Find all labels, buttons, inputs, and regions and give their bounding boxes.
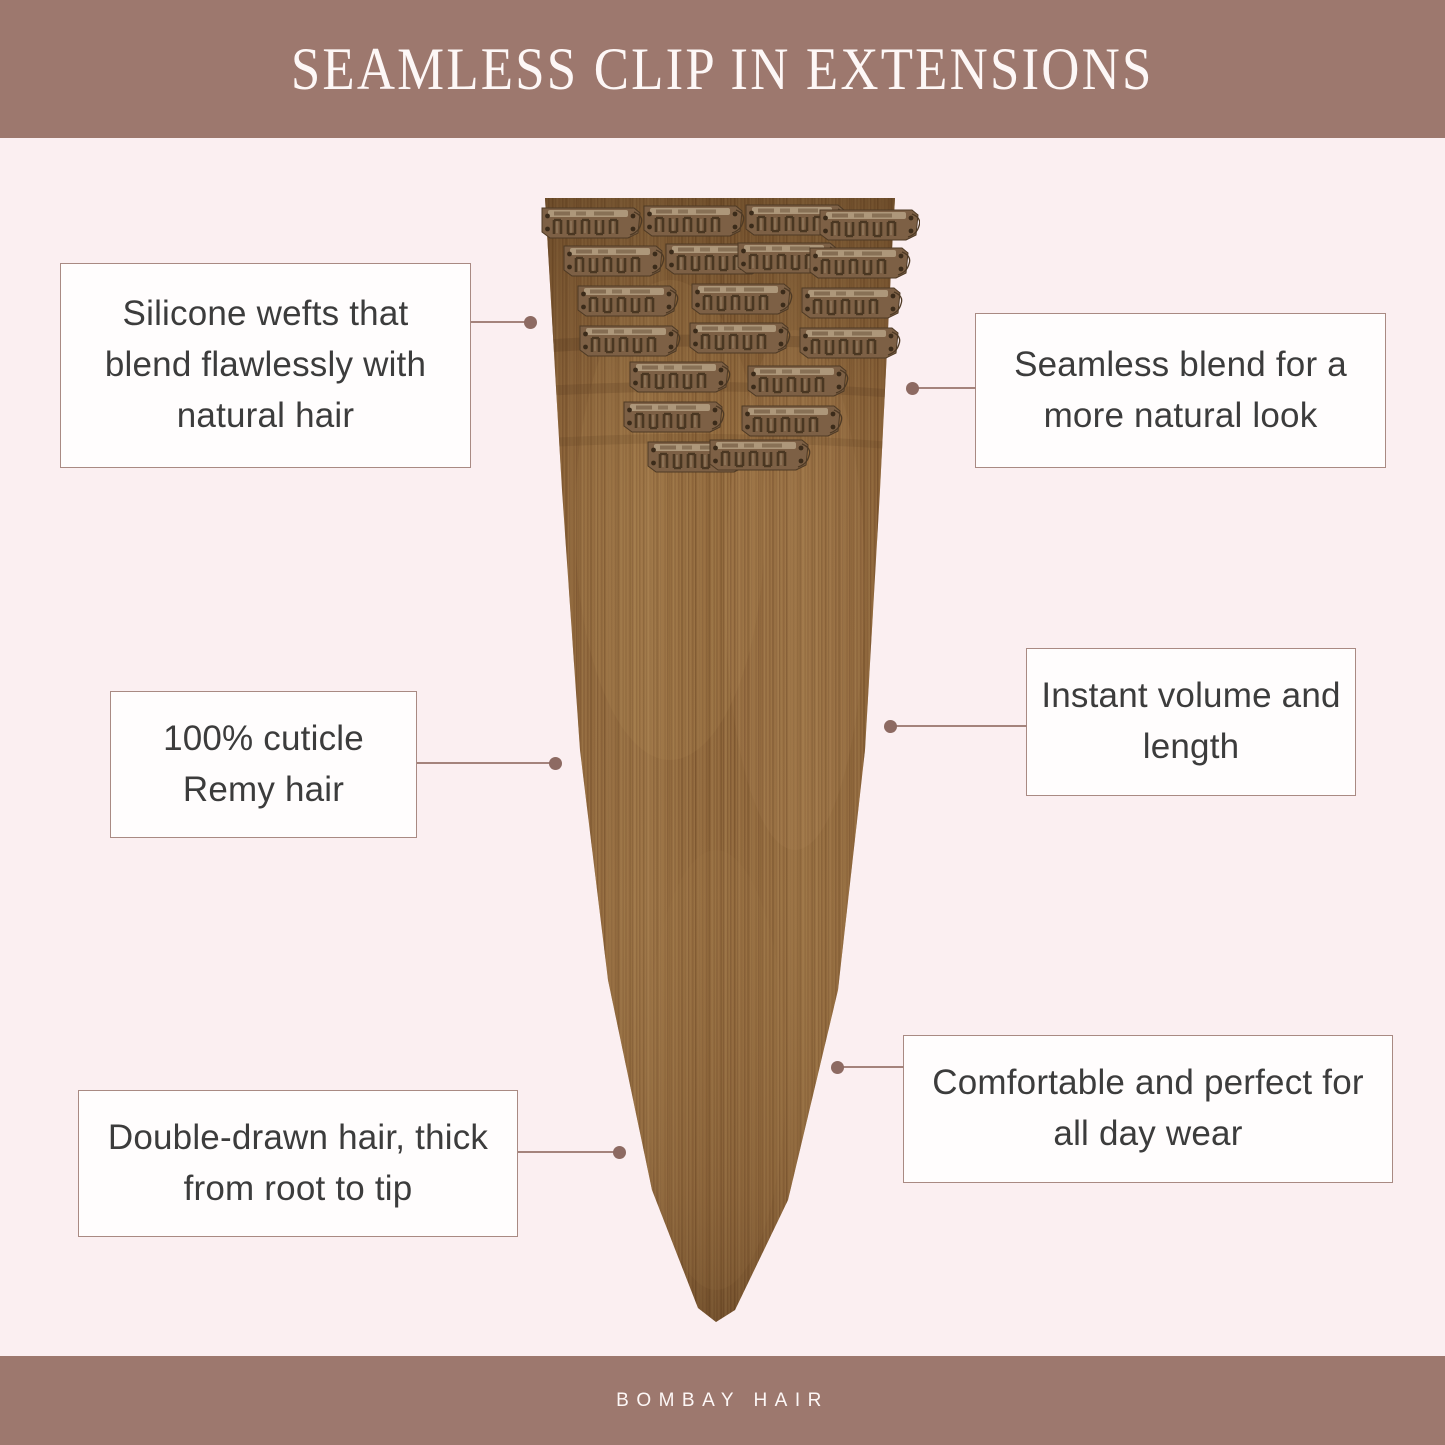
- product-image: [520, 190, 920, 1330]
- callout-cuticle-remy[interactable]: 100% cuticle Remy hair: [110, 691, 417, 838]
- callout-instant-volume[interactable]: Instant volume and length: [1026, 648, 1356, 796]
- callout-comfortable-wear[interactable]: Comfortable and perfect for all day wear: [903, 1035, 1393, 1183]
- connector-dot-silicone-wefts: [524, 316, 537, 329]
- callout-silicone-wefts[interactable]: Silicone wefts that blend flawlessly wit…: [60, 263, 471, 468]
- connector-line-instant-volume: [890, 725, 1027, 727]
- connector-dot-comfortable-wear: [831, 1061, 844, 1074]
- page-title: SEAMLESS CLIP IN EXTENSIONS: [291, 39, 1154, 99]
- callout-text: Double-drawn hair, thick from root to ti…: [79, 1113, 517, 1215]
- callout-double-drawn[interactable]: Double-drawn hair, thick from root to ti…: [78, 1090, 518, 1237]
- callout-text: Silicone wefts that blend flawlessly wit…: [61, 289, 470, 441]
- hair-body: [520, 190, 920, 1330]
- connector-line-seamless-blend: [912, 387, 976, 389]
- infographic-canvas: SEAMLESS CLIP IN EXTENSIONS: [0, 0, 1445, 1445]
- hair-extension-illustration: [520, 190, 920, 1330]
- connector-dot-double-drawn: [613, 1146, 626, 1159]
- connector-dot-cuticle-remy: [549, 757, 562, 770]
- connector-dot-seamless-blend: [906, 382, 919, 395]
- footer-bar: BOMBAY HAIR: [0, 1356, 1445, 1445]
- connector-line-comfortable-wear: [838, 1066, 904, 1068]
- connector-dot-instant-volume: [884, 720, 897, 733]
- callout-text: 100% cuticle Remy hair: [111, 714, 416, 816]
- connector-line-cuticle-remy: [417, 762, 557, 764]
- connector-line-double-drawn: [518, 1151, 622, 1153]
- header-bar: SEAMLESS CLIP IN EXTENSIONS: [0, 0, 1445, 138]
- brand-name: BOMBAY HAIR: [616, 1390, 829, 1412]
- callout-seamless-blend[interactable]: Seamless blend for a more natural look: [975, 313, 1386, 468]
- callout-text: Instant volume and length: [1027, 671, 1355, 773]
- callout-text: Comfortable and perfect for all day wear: [904, 1058, 1392, 1160]
- callout-text: Seamless blend for a more natural look: [976, 340, 1385, 442]
